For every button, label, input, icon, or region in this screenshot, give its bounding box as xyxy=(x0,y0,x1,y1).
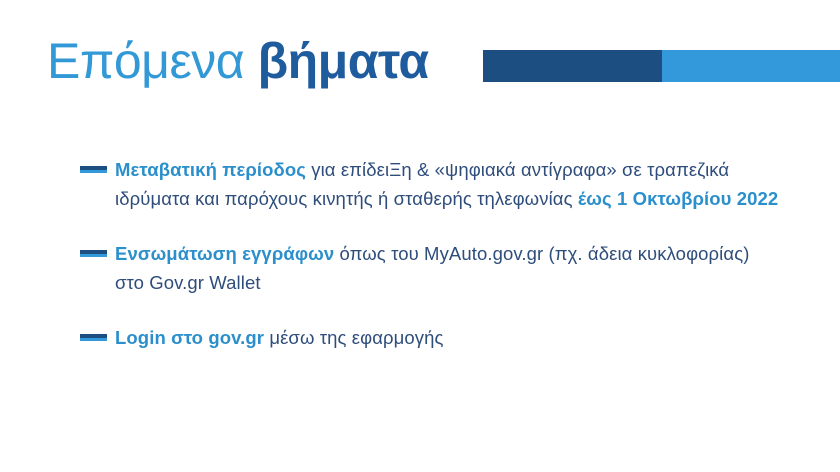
bullet-bar-icon xyxy=(80,166,107,173)
page-title: Επόμενα βήματα xyxy=(47,30,429,92)
bullet-bar-icon-bottom xyxy=(80,338,107,341)
list-item-body: μέσω της εφαρμογής xyxy=(264,327,443,348)
bullet-bar-icon xyxy=(80,250,107,257)
slide-container: Επόμενα βήματα Μεταβατική περίοδος για ε… xyxy=(0,0,840,472)
page-title-bold-part: βήματα xyxy=(244,33,428,89)
bullet-bar-icon xyxy=(80,334,107,341)
list-item-text: Ενσωμάτωση εγγράφων όπως του MyAuto.gov.… xyxy=(115,239,780,297)
list-item: Ενσωμάτωση εγγράφων όπως του MyAuto.gov.… xyxy=(80,239,780,297)
bullet-list: Μεταβατική περίοδος για επίδειΞη & «ψηφι… xyxy=(80,155,780,352)
header-accent-bar xyxy=(483,50,840,82)
list-item-text: Μεταβατική περίοδος για επίδειΞη & «ψηφι… xyxy=(115,155,780,213)
bullet-bar-icon-bottom xyxy=(80,254,107,257)
list-item: Μεταβατική περίοδος για επίδειΞη & «ψηφι… xyxy=(80,155,780,213)
bullet-bar-icon-bottom xyxy=(80,170,107,173)
accent-bar-light-segment xyxy=(662,50,840,82)
list-item-emphasis-deadline: έως 1 Οκτωβρίου 2022 xyxy=(578,188,778,209)
list-item-emphasis: Μεταβατική περίοδος xyxy=(115,159,306,180)
list-item-emphasis: Ενσωμάτωση εγγράφων xyxy=(115,243,334,264)
accent-bar-dark-segment xyxy=(483,50,662,82)
list-item: Login στο gov.gr μέσω της εφαρμογής xyxy=(80,323,780,352)
list-item-emphasis: Login στο gov.gr xyxy=(115,327,264,348)
list-item-text: Login στο gov.gr μέσω της εφαρμογής xyxy=(115,323,780,352)
page-title-light-part: Επόμενα xyxy=(47,33,244,89)
